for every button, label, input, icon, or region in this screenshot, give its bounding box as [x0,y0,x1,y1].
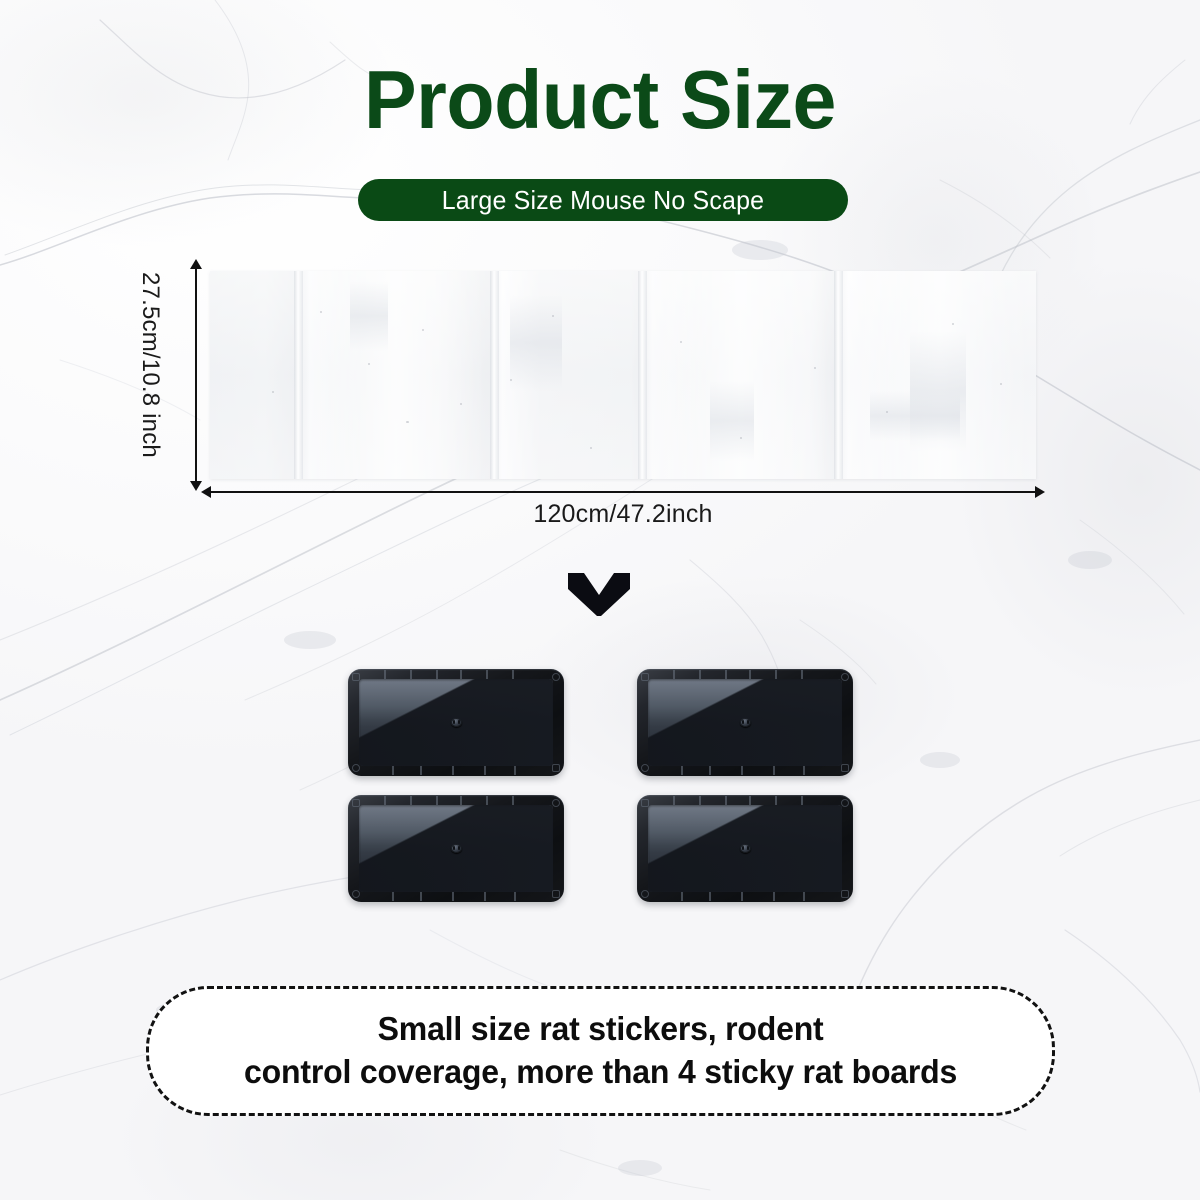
board-center-stud [740,844,751,853]
sheet-wrinkle [350,281,388,351]
board-notch [420,766,422,775]
sheet-wrinkle [510,295,562,391]
board-notch [775,670,777,679]
board-notch [801,796,803,805]
board-notch [673,796,675,805]
sticky-rat-board [348,795,564,902]
board-notch [460,796,462,805]
board-corner-rivet [841,890,849,898]
chevron-down-icon [568,573,630,616]
board-notch [420,892,422,901]
sheet-speck [272,391,274,393]
board-notch [775,796,777,805]
sticky-rat-board [348,669,564,776]
board-corner-rivet [552,673,560,681]
board-notch [486,670,488,679]
board-notch [709,892,711,901]
board-center-stud [451,844,462,853]
board-notch [773,766,775,775]
board-notch [741,892,743,901]
board-notch [749,796,751,805]
sticky-board-grid [348,669,853,893]
board-notch [452,766,454,775]
board-notch [514,766,516,775]
caption-line-2: control coverage, more than 4 sticky rat… [244,1051,957,1094]
subtitle-badge: Large Size Mouse No Scape [358,179,848,221]
board-notch [803,766,805,775]
board-notch [484,766,486,775]
board-corner-rivet [552,799,560,807]
board-notch [673,670,675,679]
product-size-infographic: Product Size Large Size Mouse No Scape [0,0,1200,1200]
sheet-fold-line [834,271,843,479]
height-dimension-label: 27.5cm/10.8 inch [136,272,164,472]
board-notch [773,892,775,901]
sheet-fold-line [638,271,647,479]
board-notch [514,892,516,901]
board-notch [699,796,701,805]
sheet-gloss-overlay [210,271,1036,479]
board-notch [725,670,727,679]
sheet-speck [886,411,888,413]
board-notch [486,796,488,805]
board-notch [725,796,727,805]
sticky-rat-board [637,795,853,902]
board-notch [436,796,438,805]
board-center-stud [451,718,462,727]
board-notch [410,796,412,805]
sheet-speck [510,379,512,381]
caption-text: Small size rat stickers, rodent control … [244,1008,957,1094]
board-notch [512,796,514,805]
sheet-highlight-band [306,271,486,479]
height-dimension-arrow [195,268,197,482]
sheet-speck [680,341,682,343]
sheet-speck [368,363,370,365]
board-notch [681,766,683,775]
board-corner-rivet [841,799,849,807]
board-notch [512,670,514,679]
board-notch [384,796,386,805]
sheet-wrinkle [710,381,754,461]
board-notch [384,670,386,679]
board-notch [803,892,805,901]
board-notch [452,892,454,901]
board-notch [699,670,701,679]
sheet-speck [422,329,424,331]
board-center-stud [740,718,751,727]
sheet-speck [590,447,592,449]
board-notch [410,670,412,679]
sheet-speck [952,323,954,325]
sheet-speck [740,437,742,439]
sheet-speck [460,403,462,405]
width-dimension-label: 120cm/47.2inch [210,500,1036,529]
board-notch [392,766,394,775]
board-notch [709,766,711,775]
sheet-speck [320,311,322,313]
sheet-speck [814,367,816,369]
sheet-fold-line [294,271,303,479]
caption-box: Small size rat stickers, rodent control … [146,986,1055,1116]
sheet-speck [552,315,554,317]
sheet-fold-line [490,271,499,479]
page-title: Product Size [30,58,1170,141]
board-corner-rivet [552,890,560,898]
board-notch [801,670,803,679]
board-corner-rivet [841,764,849,772]
caption-line-1: Small size rat stickers, rodent [244,1008,957,1051]
sheet-wrinkle [870,391,960,441]
board-notch [741,766,743,775]
board-notch [484,892,486,901]
board-corner-rivet [841,673,849,681]
transparent-sticky-sheet [210,271,1036,479]
board-notch [681,892,683,901]
sheet-speck [406,421,409,423]
board-notch [749,670,751,679]
width-dimension-arrow [210,491,1036,493]
board-corner-rivet [552,764,560,772]
board-notch [460,670,462,679]
board-notch [392,892,394,901]
sheet-speck [1000,383,1002,385]
board-notch [436,670,438,679]
sticky-rat-board [637,669,853,776]
subtitle-badge-label: Large Size Mouse No Scape [442,185,765,216]
